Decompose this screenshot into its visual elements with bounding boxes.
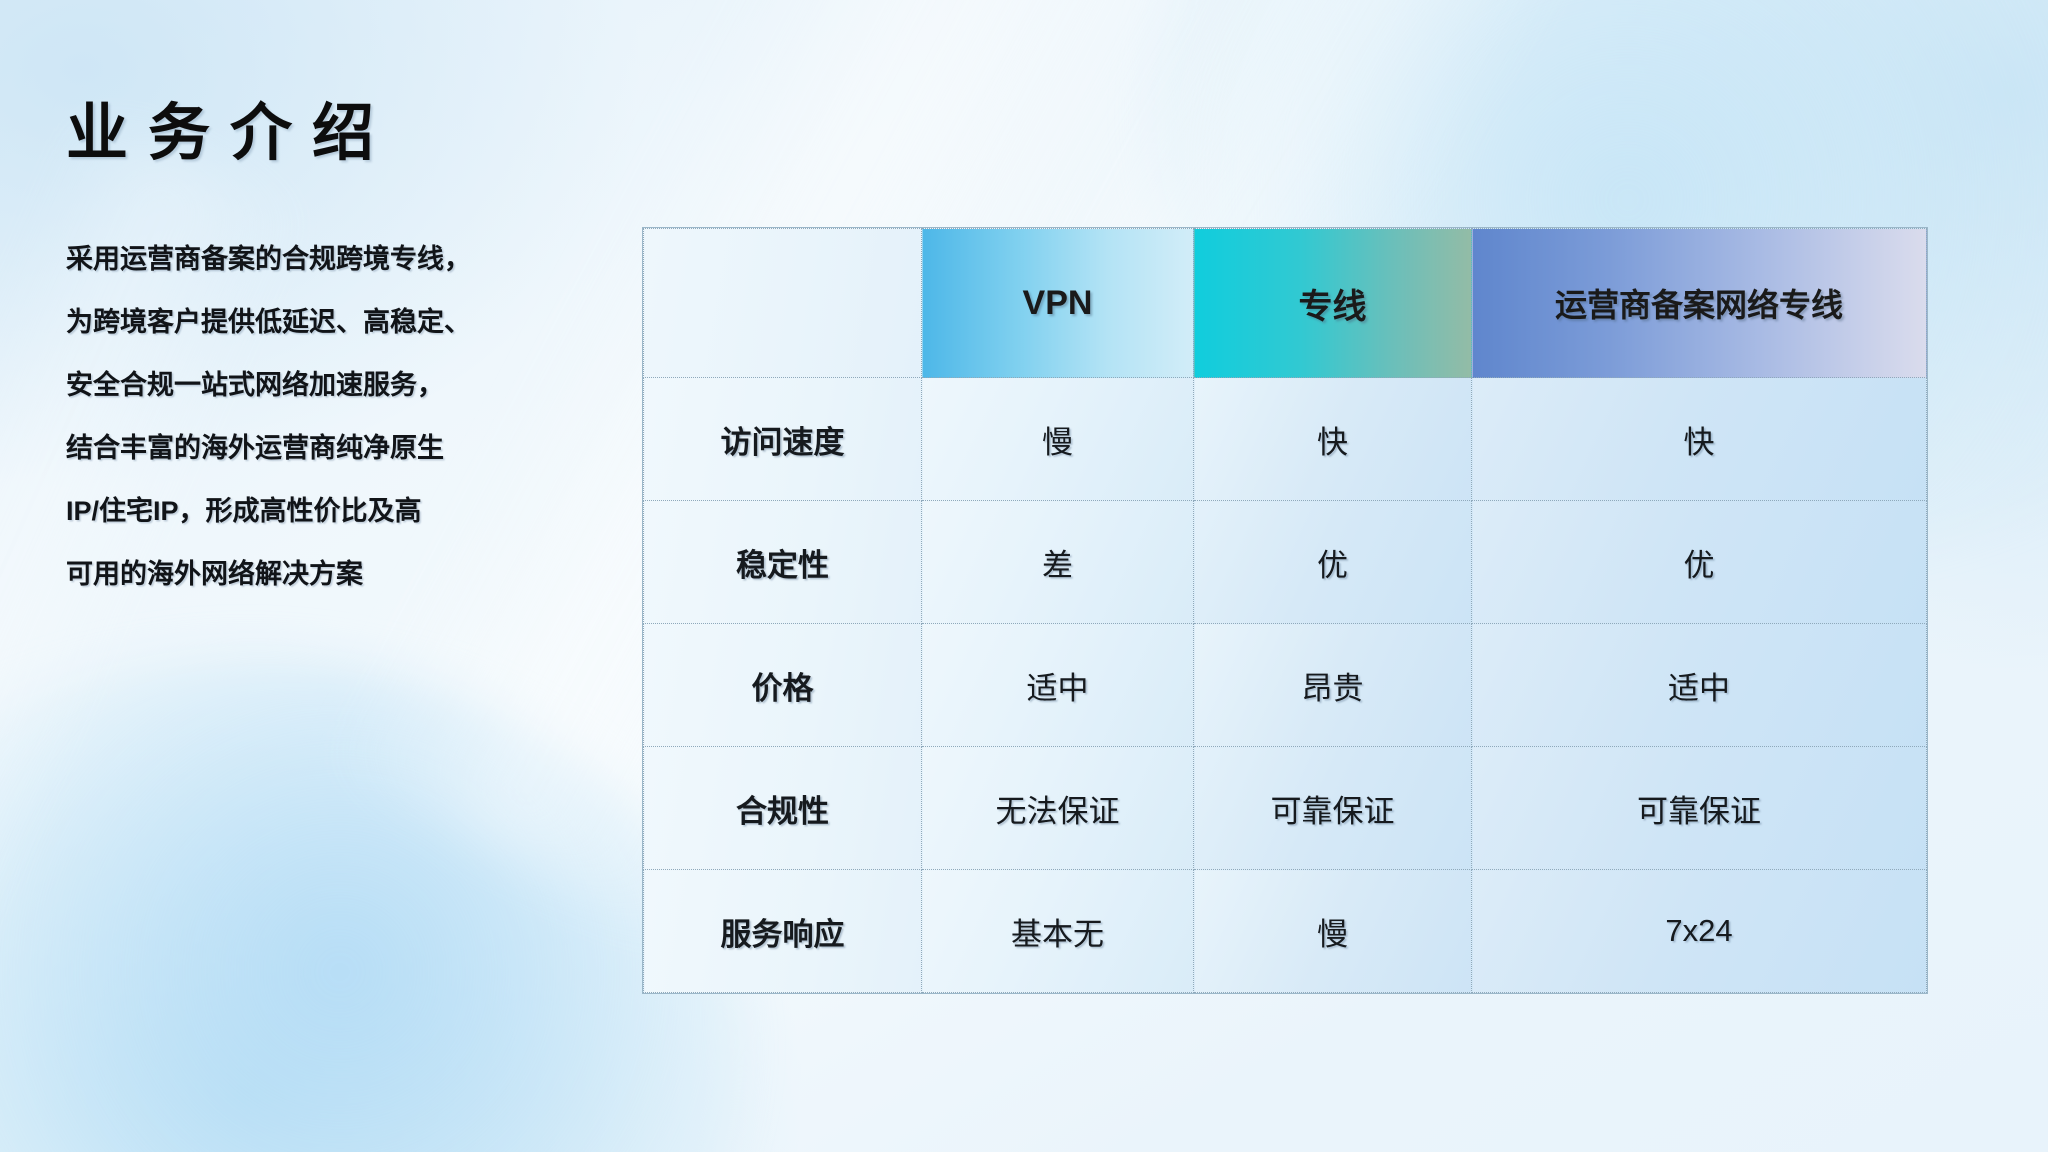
- page-title: 业务介绍: [66, 98, 394, 169]
- cell-vpn: 差: [922, 501, 1194, 624]
- background-glow-bottom-left: [0, 652, 740, 1152]
- table-header-blank: [644, 229, 922, 378]
- cell-line: 优: [1194, 501, 1472, 624]
- cell-vpn: 无法保证: [922, 747, 1194, 870]
- cell-vpn: 适中: [922, 624, 1194, 747]
- cell-line: 快: [1194, 378, 1472, 501]
- cell-vpn: 慢: [922, 378, 1194, 501]
- table-row: 稳定性 差 优 优: [644, 501, 1927, 624]
- intro-line: IP/住宅IP，形成高性价比及高: [66, 480, 626, 543]
- cell-telecom: 7x24: [1472, 870, 1927, 993]
- table-row: 价格 适中 昂贵 适中: [644, 624, 1927, 747]
- table-header: VPN 专线 运营商备案网络专线: [644, 229, 1927, 378]
- cell-line: 可靠保证: [1194, 747, 1472, 870]
- row-label: 访问速度: [644, 378, 922, 501]
- cell-telecom: 可靠保证: [1472, 747, 1927, 870]
- row-label: 稳定性: [644, 501, 922, 624]
- cell-telecom: 快: [1472, 378, 1927, 501]
- intro-paragraph: 采用运营商备案的合规跨境专线， 为跨境客户提供低延迟、高稳定、 安全合规一站式网…: [66, 228, 626, 606]
- cell-telecom: 优: [1472, 501, 1927, 624]
- row-label: 价格: [644, 624, 922, 747]
- cell-line: 慢: [1194, 870, 1472, 993]
- intro-line: 安全合规一站式网络加速服务，: [66, 354, 626, 417]
- cell-line: 昂贵: [1194, 624, 1472, 747]
- table-row: 合规性 无法保证 可靠保证 可靠保证: [644, 747, 1927, 870]
- intro-line: 可用的海外网络解决方案: [66, 543, 626, 606]
- row-label: 合规性: [644, 747, 922, 870]
- intro-line: 采用运营商备案的合规跨境专线，: [66, 228, 626, 291]
- row-label: 服务响应: [644, 870, 922, 993]
- table-body: 访问速度 慢 快 快 稳定性 差 优 优 价格 适中 昂贵 适中 合规性 无法保…: [644, 378, 1927, 993]
- table-row: 服务响应 基本无 慢 7x24: [644, 870, 1927, 993]
- cell-vpn: 基本无: [922, 870, 1194, 993]
- intro-line: 为跨境客户提供低延迟、高稳定、: [66, 291, 626, 354]
- cell-telecom: 适中: [1472, 624, 1927, 747]
- table-header-line: 专线: [1194, 229, 1472, 378]
- table-header-vpn: VPN: [922, 229, 1194, 378]
- table-header-telecom: 运营商备案网络专线: [1472, 229, 1927, 378]
- comparison-table: VPN 专线 运营商备案网络专线 访问速度 慢 快 快 稳定性 差 优 优 价格…: [643, 228, 1927, 993]
- intro-line: 结合丰富的海外运营商纯净原生: [66, 417, 626, 480]
- slide-canvas: 业务介绍 采用运营商备案的合规跨境专线， 为跨境客户提供低延迟、高稳定、 安全合…: [0, 0, 2048, 1152]
- table-row: 访问速度 慢 快 快: [644, 378, 1927, 501]
- table-header-row: VPN 专线 运营商备案网络专线: [644, 229, 1927, 378]
